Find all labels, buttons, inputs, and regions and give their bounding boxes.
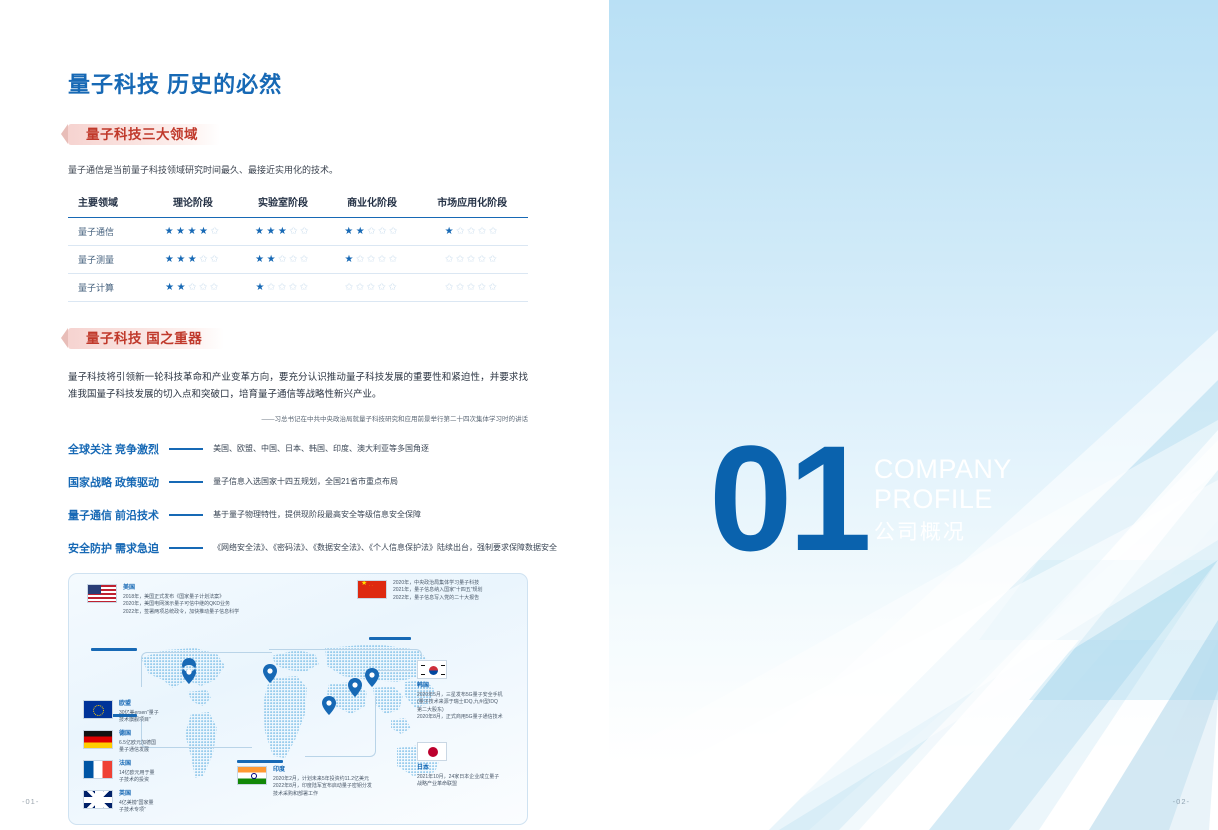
table-cell-rating: ★★★✩✩ [238,217,328,245]
feature-divider [169,481,203,482]
map-country-eu: 欧盟 30亿美ersen“量子 技术旗舰项目” [83,700,179,725]
star-empty-icon: ✩ [478,226,489,237]
feature-value: 美国、欧盟、中国、日本、韩国、印度、澳大利亚等多国角逐 [213,443,429,454]
star-empty-icon: ✩ [389,254,400,265]
map-country-in: 印度 2020年2月，计划未来5年投资约11.2亿美元 2022年8月，印度陆军… [237,766,372,799]
star-filled-icon: ★ [176,254,187,265]
table-cell-rating: ✩✩✩✩✩ [416,273,528,301]
star-empty-icon: ✩ [389,226,400,237]
star-filled-icon: ★ [267,254,278,265]
feature-key: 安全防护 需求急迫 [68,540,159,556]
flag-in-icon [237,766,267,785]
feature-key: 量子通信 前沿技术 [68,507,159,523]
star-empty-icon: ✩ [278,254,289,265]
section-number: 01 [709,440,868,557]
country-line: 2022年，签署两项总统政令，加快推动量子信息科学 [123,609,239,617]
table-cell-rating: ★✩✩✩✩ [238,273,328,301]
page-title-part1: 量子科技 [68,72,160,97]
table-cell-rating: ★★★✩✩ [148,245,238,273]
feature-row: 安全防护 需求急迫《网络安全法》、《密码法》、《数据安全法》、《个人信息保护法》… [68,540,528,556]
flag-cn-icon [357,580,387,599]
feature-value: 量子信息入选国家十四五规划，全国21省市重点布局 [213,476,398,487]
page-number-left: -01- [22,797,39,806]
star-filled-icon: ★ [445,226,456,237]
flag-de-icon [83,730,113,749]
section-badge-label: 量子科技三大领域 [86,127,198,142]
star-filled-icon: ★ [356,226,367,237]
star-filled-icon: ★ [255,282,266,293]
table-row: 量子通信★★★★✩★★★✩✩★★✩✩✩★✩✩✩✩ [68,217,528,245]
page-number-right: -02- [1173,797,1190,806]
star-empty-icon: ✩ [199,254,210,265]
country-name-eu: 欧盟 [119,700,179,709]
country-line: 子技术专项” [119,807,179,815]
document-spread: 量子科技 历史的必然 量子科技三大领域 量子通信是当前量子科技领域研究时间最久、… [0,0,1218,830]
star-empty-icon: ✩ [356,254,367,265]
star-empty-icon: ✩ [278,282,289,293]
feature-divider [169,448,203,449]
policy-quote: 量子科技将引领新一轮科技革命和产业变革方向，要充分认识推动量子科技发展的重要性和… [68,369,528,404]
star-filled-icon: ★ [165,254,176,265]
star-filled-icon: ★ [165,226,176,237]
star-filled-icon: ★ [188,254,199,265]
star-empty-icon: ✩ [345,282,356,293]
country-name-in: 印度 [273,766,372,775]
star-empty-icon: ✩ [210,254,221,265]
star-empty-icon: ✩ [467,254,478,265]
star-empty-icon: ✩ [300,282,311,293]
star-empty-icon: ✩ [489,282,500,293]
star-empty-icon: ✩ [300,254,311,265]
flag-kr-icon [417,660,447,679]
star-empty-icon: ✩ [289,282,300,293]
country-line: 2022年8月，印度陆军宣布启动量子密钥分发 [273,783,372,791]
section-badge-national: 量子科技 国之重器 [68,328,224,349]
table-cell-rating: ★✩✩✩✩ [416,217,528,245]
country-line: 2021年，量子信息纳入国家“十四五”规划 [393,587,482,595]
star-empty-icon: ✩ [210,226,221,237]
table-cell-rating: ✩✩✩✩✩ [328,273,417,301]
flag-eu-icon [83,700,113,719]
country-line: 2022年，量子信息写入党的二十大报告 [393,595,482,603]
country-line: 量子通信发展 [119,747,179,755]
feature-key: 全球关注 竞争激烈 [68,441,159,457]
star-empty-icon: ✩ [388,282,399,293]
flag-jp-icon [417,742,447,761]
table-cell-rating: ★★★★✩ [148,217,238,245]
table-header-row: 主要领域理论阶段实验室阶段商业化阶段市场应用化阶段 [68,187,528,218]
table-header-cell: 市场应用化阶段 [416,187,528,218]
map-country-cn: 2020年，中央政治局集体学习量子科技 2021年，量子信息纳入国家“十四五”规… [357,580,482,603]
star-filled-icon: ★ [188,226,199,237]
star-empty-icon: ✩ [188,282,199,293]
star-empty-icon: ✩ [300,226,311,237]
table-cell-domain: 量子测量 [68,245,148,273]
world-map-panel: 美国 2018年，美国正式发布《国家量子计划法案》 2020年，美国电网演示量子… [68,573,528,825]
table-row: 量子计算★★✩✩✩★✩✩✩✩✩✩✩✩✩✩✩✩✩✩ [68,273,528,301]
flag-gb-icon [83,790,113,809]
table-cell-rating: ★★✩✩✩ [238,245,328,273]
star-filled-icon: ★ [278,226,289,237]
star-empty-icon: ✩ [367,282,378,293]
star-filled-icon: ★ [165,282,176,293]
table-cell-rating: ★★✩✩✩ [148,273,238,301]
map-country-us: 美国 2018年，美国正式发布《国家量子计划法案》 2020年，美国电网演示量子… [87,584,239,617]
country-name-kr: 韩国 [417,682,503,691]
star-empty-icon: ✩ [478,254,489,265]
table-cell-domain: 量子计算 [68,273,148,301]
map-country-jp: 日本 2021年10月，24家日本企业成立量子 战略产业革命联盟 [417,742,503,789]
star-filled-icon: ★ [255,226,266,237]
country-line: 技术采购和部署工作 [273,791,372,799]
star-empty-icon: ✩ [456,226,467,237]
feature-divider [169,547,203,548]
country-line: 子技术的投资 [119,777,179,785]
table-cell-rating: ★★✩✩✩ [328,217,417,245]
star-empty-icon: ✩ [210,282,221,293]
feature-row: 量子通信 前沿技术基于量子物理特性，提供现阶段最高安全等级信息安全保障 [68,507,528,523]
star-filled-icon: ★ [177,282,188,293]
star-empty-icon: ✩ [489,254,500,265]
table-header-cell: 主要领域 [68,187,148,218]
section-badge-domains: 量子科技三大领域 [68,124,220,145]
country-line: 2020年8月，正式商用5G量子通信技术 [417,714,503,722]
star-empty-icon: ✩ [378,282,389,293]
star-empty-icon: ✩ [378,226,389,237]
star-empty-icon: ✩ [199,282,210,293]
star-filled-icon: ★ [176,226,187,237]
star-empty-icon: ✩ [489,226,500,237]
table-header-cell: 理论阶段 [148,187,238,218]
star-empty-icon: ✩ [378,254,389,265]
star-empty-icon: ✩ [367,254,378,265]
left-page: 量子科技 历史的必然 量子科技三大领域 量子通信是当前量子科技领域研究时间最久、… [0,0,609,830]
page-title-part2: 历史的必然 [167,72,282,97]
country-name-fr: 法国 [119,760,179,769]
map-country-fr: 法国 14亿欧元用于量 子技术的投资 [83,760,179,785]
star-empty-icon: ✩ [467,226,478,237]
feature-list: 全球关注 竞争激烈美国、欧盟、中国、日本、韩国、印度、澳大利亚等多国角逐国家战略… [68,441,528,556]
feature-row: 全球关注 竞争激烈美国、欧盟、中国、日本、韩国、印度、澳大利亚等多国角逐 [68,441,528,457]
cover-title-cn: 公司概况 [874,516,1012,546]
star-filled-icon: ★ [266,226,277,237]
star-empty-icon: ✩ [289,254,300,265]
star-filled-icon: ★ [345,254,356,265]
star-empty-icon: ✩ [289,226,300,237]
star-empty-icon: ✩ [445,254,456,265]
map-country-de: 德国 6.5亿欧元加德国 量子通信发展 [83,730,179,755]
country-name-us: 美国 [123,584,239,593]
cover-heading: 01 COMPANY PROFILE 公司概况 [709,440,1012,557]
feature-divider [169,514,203,515]
cover-title-en-line2: PROFILE [874,484,1012,514]
right-page: 01 COMPANY PROFILE 公司概况 -02- [609,0,1218,830]
star-empty-icon: ✩ [267,282,278,293]
table-header-cell: 商业化阶段 [328,187,417,218]
star-empty-icon: ✩ [478,282,489,293]
table-cell-rating: ✩✩✩✩✩ [416,245,528,273]
star-empty-icon: ✩ [356,282,367,293]
star-empty-icon: ✩ [456,254,467,265]
country-name-gb: 英国 [119,790,179,799]
map-country-kr: 韩国 2020年5月，三星发布5G量子安全手机 (量子技术来源于瑞士IDQ,九州… [417,660,503,722]
country-line: (量子技术来源于瑞士IDQ,九州型IDQ [417,699,503,707]
feature-value: 基于量子物理特性，提供现阶段最高安全等级信息安全保障 [213,509,421,520]
feature-value: 《网络安全法》、《密码法》、《数据安全法》、《个人信息保护法》陆续出台，强制要求… [213,542,557,553]
table-header-cell: 实验室阶段 [238,187,328,218]
feature-key: 国家战略 政策驱动 [68,474,159,490]
star-empty-icon: ✩ [367,226,378,237]
feature-row: 国家战略 政策驱动量子信息入选国家十四五规划，全国21省市重点布局 [68,474,528,490]
country-line: 2020年，美国电网演示量子可信中继的QKD业务 [123,601,239,609]
section1-lede: 量子通信是当前量子科技领域研究时间最久、最接近实用化的技术。 [68,163,528,177]
cover-title-en-line1: COMPANY [874,454,1012,484]
star-empty-icon: ✩ [467,282,478,293]
star-filled-icon: ★ [344,226,355,237]
country-name-jp: 日本 [417,764,503,773]
flag-us-icon [87,584,117,603]
country-line: 技术旗舰项目” [119,717,179,725]
domains-table: 主要领域理论阶段实验室阶段商业化阶段市场应用化阶段 量子通信★★★★✩★★★✩✩… [68,187,528,302]
decorative-ribbons [609,0,1218,830]
country-name-de: 德国 [119,730,179,739]
table-cell-domain: 量子通信 [68,217,148,245]
page-title: 量子科技 历史的必然 [68,72,528,98]
section-badge-label-2: 量子科技 国之重器 [86,331,202,346]
star-empty-icon: ✩ [456,282,467,293]
table-row: 量子测量★★★✩✩★★✩✩✩★✩✩✩✩✩✩✩✩✩ [68,245,528,273]
star-empty-icon: ✩ [445,282,456,293]
country-line: 战略产业革命联盟 [417,781,503,789]
quote-source: ——习总书记在中共中央政治局就量子科技研究和应用前景举行第二十四次集体学习时的讲… [68,413,528,423]
map-country-gb: 英国 4亿美镑“国家量 子技术专项” [83,790,179,815]
star-filled-icon: ★ [255,254,266,265]
flag-fr-icon [83,760,113,779]
table-cell-rating: ★✩✩✩✩ [328,245,417,273]
star-filled-icon: ★ [199,226,210,237]
